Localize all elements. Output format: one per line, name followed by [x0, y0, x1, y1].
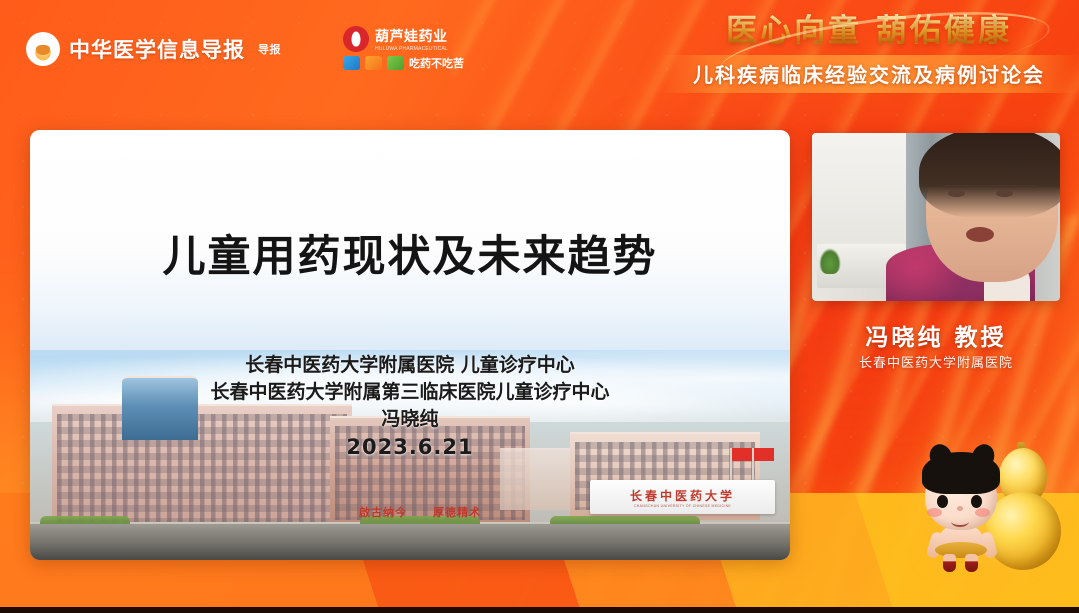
speaker-organization: 长春中医药大学附属医院: [812, 352, 1060, 371]
mascot-leg-right: [965, 554, 978, 572]
video-plant: [819, 248, 841, 274]
flame-icon: [343, 26, 369, 52]
event-title-banner: 医心向童 葫佑健康 儿科疾病临床经验交流及病例讨论会: [659, 12, 1079, 93]
photo-campus-sign-cn: 长春中医药大学: [630, 487, 735, 504]
speaker-name: 冯晓纯 教授: [812, 318, 1060, 352]
mascot-mouth: [951, 516, 969, 527]
chip-green-icon: [387, 56, 404, 70]
emblem-icon: [26, 32, 60, 66]
logo-huluwa-name-en: HULUWA PHARMACEUTICAL: [375, 46, 448, 52]
logo-huluwa-top-row: 葫芦娃药业 HULUWA PHARMACEUTICAL: [343, 26, 464, 52]
mascot-hair-bun-right: [968, 441, 998, 473]
chip-blue-icon: [343, 56, 360, 70]
logo-huluwa-bottom-row: 吃药不吃苦: [343, 55, 464, 71]
broadcast-stage: 中华医学信息导报 导报 葫芦娃药业 HULUWA PHARMACEUTICAL …: [0, 0, 1079, 613]
chip-orange-icon: [365, 56, 382, 70]
mascot-eye-left: [937, 495, 948, 508]
logo-china-medical-journal: 中华医学信息导报 导报: [26, 32, 281, 66]
photo-ground: [30, 524, 790, 560]
calabash-boy-mascot: [905, 432, 1065, 582]
mascot-nose: [957, 506, 963, 511]
mascot-leg-left: [943, 554, 956, 572]
photo-campus-sign-en: CHANGCHUN UNIVERSITY OF CHINESE MEDICINE: [634, 504, 731, 508]
presentation-slide[interactable]: 啟古纳今 厚德精术 长春中医药大学 CHANGCHUN UNIVERSITY O…: [30, 130, 790, 560]
mascot-character: [913, 446, 1009, 574]
logo-huluwa-pharma: 葫芦娃药业 HULUWA PHARMACEUTICAL 吃药不吃苦: [343, 26, 464, 71]
photo-wall-slogan-left: 啟古纳今: [359, 504, 407, 520]
slide-credits: 长春中医药大学附属医院 儿童诊疗中心 长春中医药大学附属第三临床医院儿童诊疗中心…: [30, 352, 790, 463]
video-window: [812, 133, 906, 251]
video-speaker-hair: [919, 133, 1060, 218]
photo-wall-slogan-right: 厚德精术: [433, 504, 481, 520]
event-title: 医心向童 葫佑健康: [659, 12, 1079, 51]
logo-huluwa-name-cn: 葫芦娃药业: [375, 28, 448, 44]
slide-credit-line-3: 冯晓纯: [30, 406, 790, 433]
slide-credit-line-2: 长春中医药大学附属第三临床医院儿童诊疗中心: [30, 379, 790, 406]
mascot-cheek-right: [975, 508, 990, 517]
mascot-cheek-left: [927, 508, 942, 517]
speaker-video-feed[interactable]: [812, 133, 1060, 301]
slide-title: 儿童用药现状及未来趋势: [30, 222, 790, 284]
event-subtitle-band: 儿科疾病临床经验交流及病例讨论会: [659, 55, 1079, 93]
logo-cma-label: 中华医学信息导报: [69, 34, 245, 64]
video-speaker-mouth: [966, 227, 994, 242]
photo-wall-slogan: 啟古纳今 厚德精术: [320, 500, 520, 524]
logo-huluwa-label: 葫芦娃药业 HULUWA PHARMACEUTICAL: [375, 26, 448, 52]
video-speaker-eye-right: [996, 190, 1013, 197]
mascot-hair-bun-left: [926, 441, 956, 473]
event-subtitle: 儿科疾病临床经验交流及病例讨论会: [669, 59, 1069, 88]
slide-credit-date: 2023.6.21: [30, 433, 790, 463]
logo-cma-suffix: 导报: [258, 41, 281, 57]
slide-credit-line-1: 长春中医药大学附属医院 儿童诊疗中心: [30, 352, 790, 379]
mascot-eye-right: [971, 495, 982, 508]
background-bottom-edge: [0, 607, 1079, 613]
header-logo-row: 中华医学信息导报 导报 葫芦娃药业 HULUWA PHARMACEUTICAL …: [26, 26, 464, 71]
logo-huluwa-tagline: 吃药不吃苦: [409, 55, 464, 71]
photo-campus-sign: 长春中医药大学 CHANGCHUN UNIVERSITY OF CHINESE …: [590, 480, 775, 514]
